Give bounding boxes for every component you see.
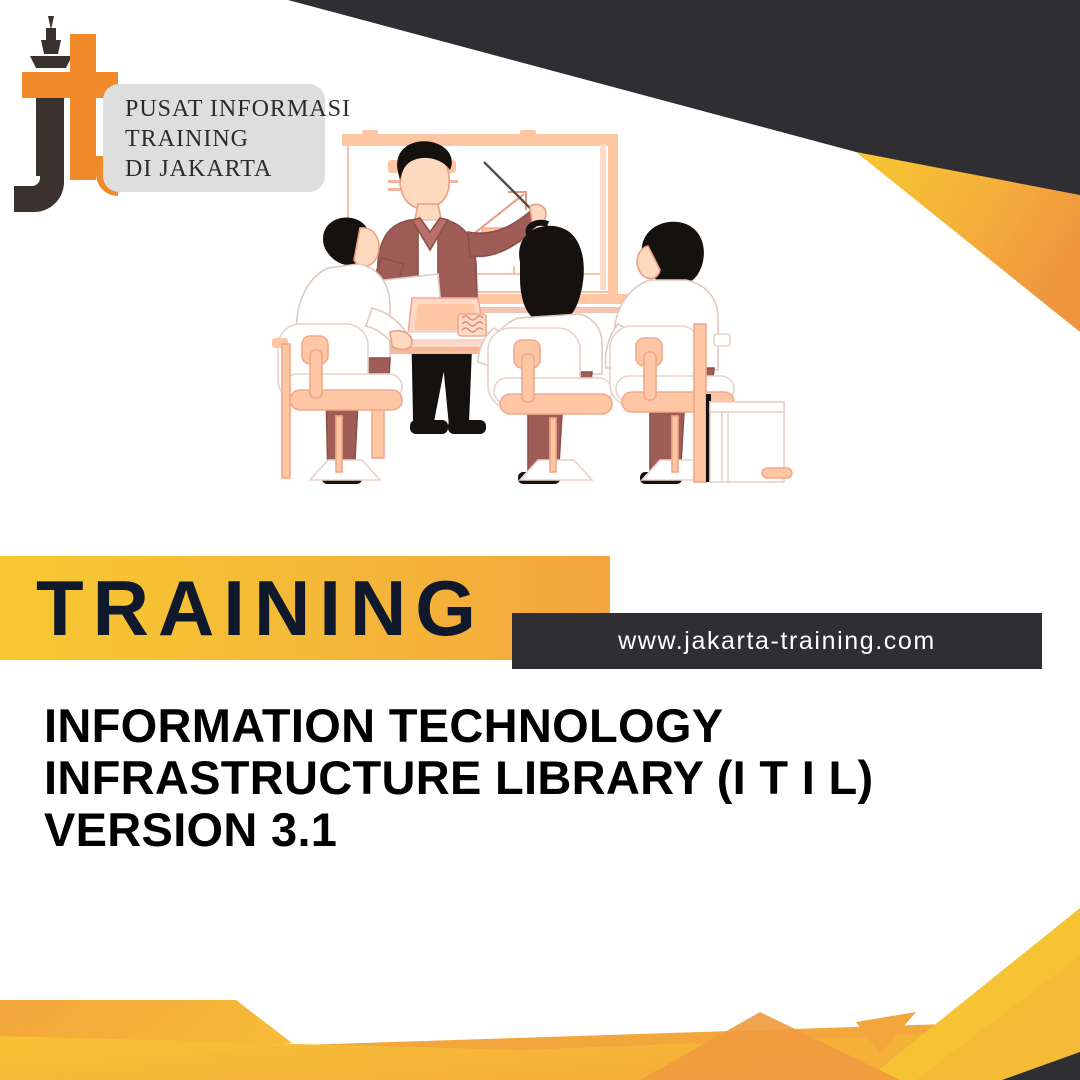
website-url[interactable]: www.jakarta-training.com — [512, 613, 1042, 669]
tagline-line-1: PUSAT INFORMASI — [125, 96, 351, 123]
poster-canvas: PUSAT INFORMASI TRAINING DI JAKARTA — [0, 0, 1080, 1080]
classroom-training-illustration — [262, 128, 818, 532]
training-banner-label: TRAINING — [36, 560, 485, 656]
course-title-line-3: VERSION 3.1 — [44, 804, 1004, 856]
course-title-line-2: INFRASTRUCTURE LIBRARY (I T I L) — [44, 752, 1004, 804]
monas-tower-icon — [30, 16, 72, 68]
tagline-line-3: DI JAKARTA — [125, 156, 272, 183]
jt-monogram-icon — [8, 14, 118, 214]
course-title: INFORMATION TECHNOLOGY INFRASTRUCTURE LI… — [44, 700, 1004, 856]
cup-icon — [458, 314, 486, 336]
tagline-line-2: TRAINING — [125, 126, 249, 153]
storage-bin-icon — [710, 402, 792, 482]
course-title-line-1: INFORMATION TECHNOLOGY — [44, 700, 1004, 752]
